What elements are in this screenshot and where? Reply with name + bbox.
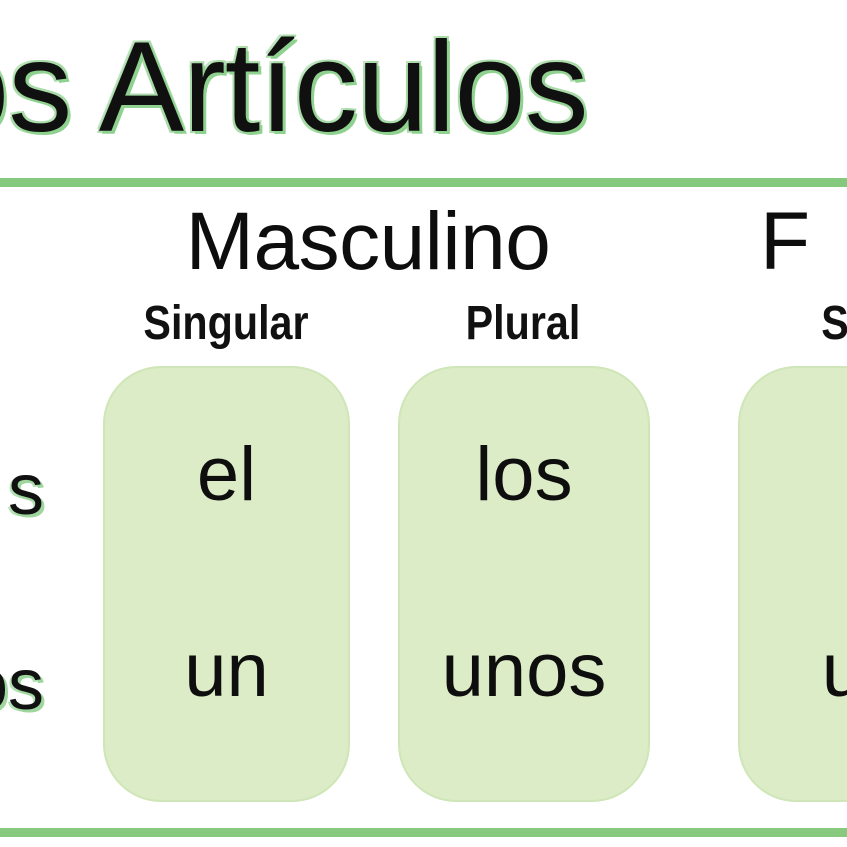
page-title: os Artículos bbox=[0, 18, 838, 158]
gender-header-masculino: Masculino bbox=[118, 196, 618, 288]
article-indefinido-masculino-singular: un bbox=[105, 628, 348, 714]
articles-table-graphic: os Artículos Masculino F Singular Plural… bbox=[0, 0, 847, 847]
row-label-definidos: s bbox=[0, 450, 44, 530]
column-card-femenino-singular: l un bbox=[740, 368, 847, 800]
gender-header-femenino: F bbox=[760, 196, 847, 288]
number-header-masculino-singular: Singular bbox=[114, 296, 338, 352]
row-label-indefinidos: os bbox=[0, 645, 44, 725]
header-divider-top bbox=[0, 178, 847, 187]
number-header-femenino-singular: Sing bbox=[754, 296, 847, 352]
article-definido-femenino-singular: l bbox=[740, 432, 847, 518]
footer-divider-bottom bbox=[0, 828, 847, 837]
column-card-masculino-singular: el un bbox=[105, 368, 348, 800]
article-definido-masculino-singular: el bbox=[105, 432, 348, 518]
article-indefinido-femenino-singular: un bbox=[740, 628, 847, 714]
number-header-masculino-plural: Plural bbox=[417, 296, 629, 352]
article-indefinido-masculino-plural: unos bbox=[400, 628, 648, 714]
article-definido-masculino-plural: los bbox=[400, 432, 648, 518]
column-card-masculino-plural: los unos bbox=[400, 368, 648, 800]
